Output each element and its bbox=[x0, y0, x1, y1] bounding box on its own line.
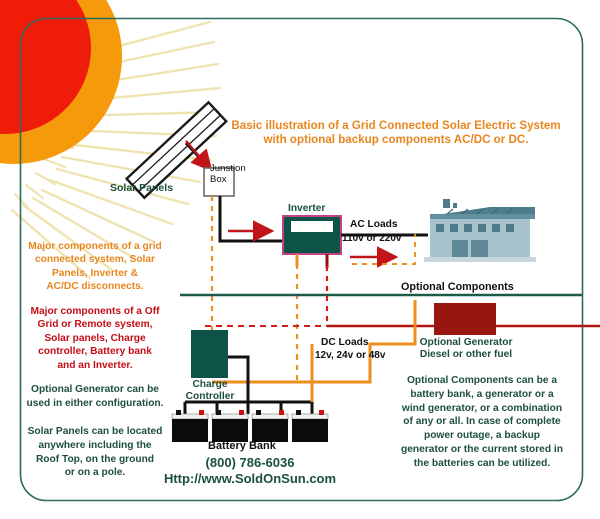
optional-generator-label-line-1: Optional Generator bbox=[410, 337, 522, 349]
diagram-canvas: Basic illustration of a Grid Connected S… bbox=[0, 0, 600, 519]
contact-phone: (800) 786-6036 bbox=[170, 455, 330, 470]
panels-note-line: anywhere including the bbox=[12, 439, 178, 453]
optional-note-line: wind generator, or a combination bbox=[378, 402, 586, 416]
generator-usage-note: Optional Generator can be used in either… bbox=[12, 383, 178, 411]
offgrid-note-line: Solar panels, Charge bbox=[14, 332, 176, 345]
optional-note-line: the batteries can be utilized. bbox=[378, 457, 586, 471]
inverter-label: Inverter bbox=[288, 203, 325, 215]
offgrid-note-line: and an Inverter. bbox=[14, 359, 176, 372]
generator-icon bbox=[434, 303, 496, 335]
battery-bank-icon bbox=[172, 410, 328, 442]
title-line-2: with optional backup components AC/DC or… bbox=[205, 133, 587, 147]
ac-voltage-label: 110v or 220v bbox=[342, 233, 402, 245]
battery-bank-label: Battery Bank bbox=[208, 440, 276, 453]
grid-components-note: Major components of a grid connected sys… bbox=[14, 240, 176, 294]
optional-note-line: battery bank, a generator or a bbox=[378, 388, 586, 402]
inverter-icon bbox=[283, 216, 341, 254]
generator-note-line: used in either configuration. bbox=[12, 397, 178, 411]
generator-note-line: Optional Generator can be bbox=[12, 383, 178, 397]
charge-controller-icon bbox=[191, 330, 228, 378]
offgrid-note-line: Grid or Remote system, bbox=[14, 318, 176, 331]
offgrid-note-line: Major components of a Off bbox=[14, 305, 176, 318]
optional-note-line: Optional Components can be a bbox=[378, 374, 586, 388]
dc-loads-label: DC Loads bbox=[321, 337, 369, 349]
optional-note-line: generator or the current stored in bbox=[378, 443, 586, 457]
offgrid-note-line: controller, Battery bank bbox=[14, 345, 176, 358]
dc-voltage-label: 12v, 24v or 48v bbox=[315, 350, 385, 362]
junction-box-label-line-1: Junstion bbox=[210, 163, 246, 174]
building-icon bbox=[424, 199, 536, 262]
junction-box-label: Junstion Box bbox=[210, 163, 246, 186]
contact-website[interactable]: Http://www.SoldOnSun.com bbox=[150, 471, 350, 486]
optional-generator-label-line-2: Diesel or other fuel bbox=[410, 349, 522, 361]
charge-controller-label-line-1: Charge bbox=[176, 379, 244, 391]
grid-note-line: AC/DC disconnects. bbox=[14, 280, 176, 293]
diagram-title: Basic illustration of a Grid Connected S… bbox=[205, 119, 587, 146]
offgrid-components-note: Major components of a Off Grid or Remote… bbox=[14, 305, 176, 372]
optional-components-note: Optional Components can be a battery ban… bbox=[378, 374, 586, 470]
sun-icon bbox=[0, 0, 122, 164]
ac-loads-label: AC Loads bbox=[350, 219, 398, 231]
panels-note-line: Solar Panels can be located bbox=[12, 425, 178, 439]
optional-note-line: power outage, a backup bbox=[378, 429, 586, 443]
battery-icon bbox=[212, 410, 248, 442]
optional-note-line: of any or all. In case of complete bbox=[378, 415, 586, 429]
grid-note-line: connected system, Solar bbox=[14, 253, 176, 266]
battery-icon bbox=[292, 410, 328, 442]
optional-generator-label: Optional Generator Diesel or other fuel bbox=[410, 337, 522, 361]
grid-note-line: Major components of a grid bbox=[14, 240, 176, 253]
optional-components-heading: Optional Components bbox=[401, 281, 514, 294]
grid-note-line: Panels, Inverter & bbox=[14, 267, 176, 280]
charge-controller-label: Charge Controller bbox=[176, 379, 244, 403]
solar-panels-label: Solar Panels bbox=[110, 182, 173, 194]
junction-box-label-line-2: Box bbox=[210, 174, 246, 185]
panels-note-line: Roof Top, on the ground bbox=[12, 453, 178, 467]
charge-controller-label-line-2: Controller bbox=[176, 391, 244, 403]
title-line-1: Basic illustration of a Grid Connected S… bbox=[205, 119, 587, 133]
battery-icon bbox=[252, 410, 288, 442]
